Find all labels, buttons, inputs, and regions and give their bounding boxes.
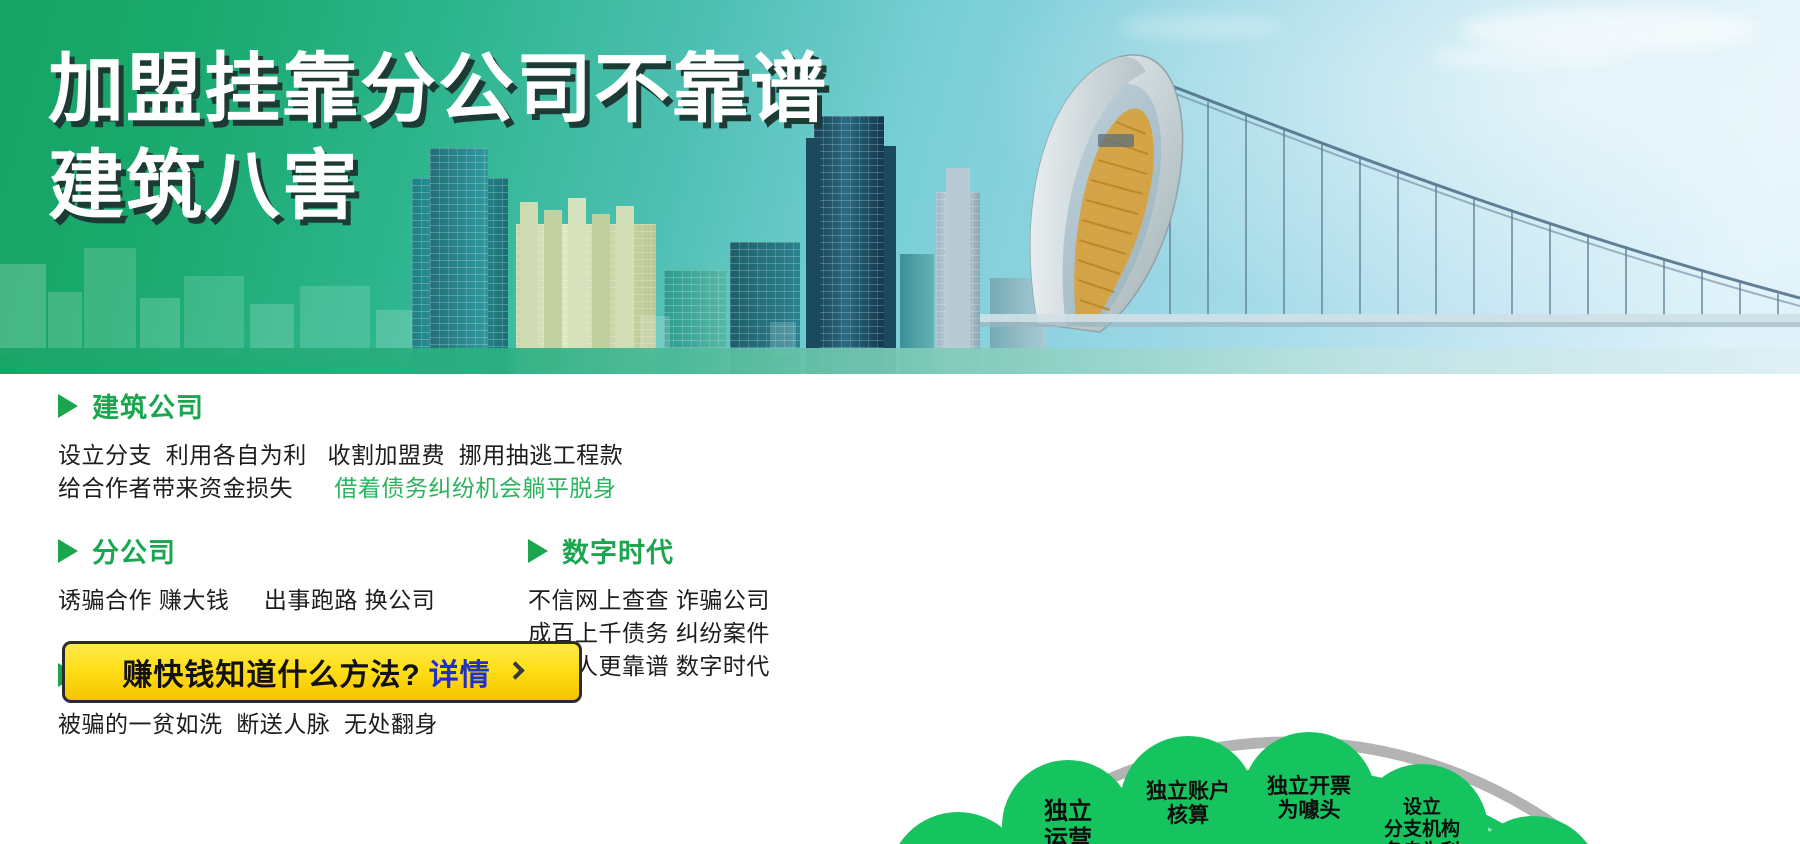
triangle-bullet-icon <box>528 539 548 563</box>
bubble-text-line: 运营 <box>1044 826 1092 844</box>
liede-bridge-illustration <box>980 48 1800 348</box>
section-body-line: 诱骗合作 赚大钱 出事跑路 换公司 <box>58 584 528 617</box>
cta-detail-link[interactable]: 详情 <box>429 650 491 694</box>
chevron-right-icon <box>506 661 524 679</box>
section-heading-digital-era: 数字时代 <box>528 531 818 570</box>
section-construction-company: 建筑公司 设立分支 利用各自为利 收割加盟费 挪用抽逃工程款 给合作者带来资金损… <box>58 386 818 505</box>
section-heading-label: 分公司 <box>92 531 176 570</box>
triangle-bullet-icon <box>58 539 78 563</box>
cta-button[interactable]: 赚快钱知道什么方法? 详情 <box>62 641 582 703</box>
section-heading-label: 建筑公司 <box>92 386 204 425</box>
bubble-text-line: 独立开票 <box>1267 775 1351 799</box>
eight-harms-diagram: 建筑八害 借着使用 总公司资质 业绩和荣誉 独立承揽 签订合同 独立 运营 独立… <box>780 704 1800 844</box>
bubble-text-line: 设立 <box>1403 797 1441 819</box>
two-column-sections: 分公司 诱骗合作 赚大钱 出事跑路 换公司 数字时代 不信网上查查 诈骗公司 成… <box>58 531 818 617</box>
hero-banner: 加盟挂靠分公司不靠谱 建筑八害 <box>0 0 1800 374</box>
section-branch-company: 分公司 诱骗合作 赚大钱 出事跑路 换公司 <box>58 531 528 617</box>
triangle-bullet-icon <box>58 394 78 418</box>
headline-line-1: 加盟挂靠分公司不靠谱 <box>48 48 828 132</box>
section-heading-label: 数字时代 <box>562 531 674 570</box>
section-heading-branch-company: 分公司 <box>58 531 528 570</box>
mixed-highlight-text: 借着债务纠纷机会躺平脱身 <box>334 475 616 501</box>
section-body-line-mixed: 给合作者带来资金损失 借着债务纠纷机会躺平脱身 <box>58 472 818 505</box>
headline-line-2: 建筑八害 <box>48 144 828 230</box>
content-area: 建筑公司 设立分支 利用各自为利 收割加盟费 挪用抽逃工程款 给合作者带来资金损… <box>0 374 1800 844</box>
cta-question-label: 赚快钱知道什么方法? <box>122 650 420 694</box>
mixed-plain-text: 给合作者带来资金损失 <box>58 475 334 501</box>
section-heading-construction-company: 建筑公司 <box>58 386 818 425</box>
skyline-ground <box>0 348 1800 374</box>
section-body-line: 不信网上查查 诈骗公司 <box>528 584 818 617</box>
bubble-text-line: 独立 <box>1044 798 1092 826</box>
bubble-text-line: 分支机构 <box>1384 819 1460 841</box>
section-body-line: 被骗的一贫如洗 断送人脉 无处翻身 <box>58 708 818 741</box>
hero-headline: 加盟挂靠分公司不靠谱 建筑八害 <box>48 48 828 230</box>
bubble-text-line: 为噱头 <box>1278 799 1341 823</box>
bubble-text-line: 独立账户 <box>1146 780 1230 804</box>
poster-root: 加盟挂靠分公司不靠谱 建筑八害 建筑公司 设立分支 利用各自为利 收割加盟费 挪… <box>0 0 1800 844</box>
section-body-line: 设立分支 利用各自为利 收割加盟费 挪用抽逃工程款 <box>58 439 818 472</box>
bubble-text-line: 核算 <box>1167 804 1209 828</box>
cloud-decoration <box>1120 16 1280 38</box>
